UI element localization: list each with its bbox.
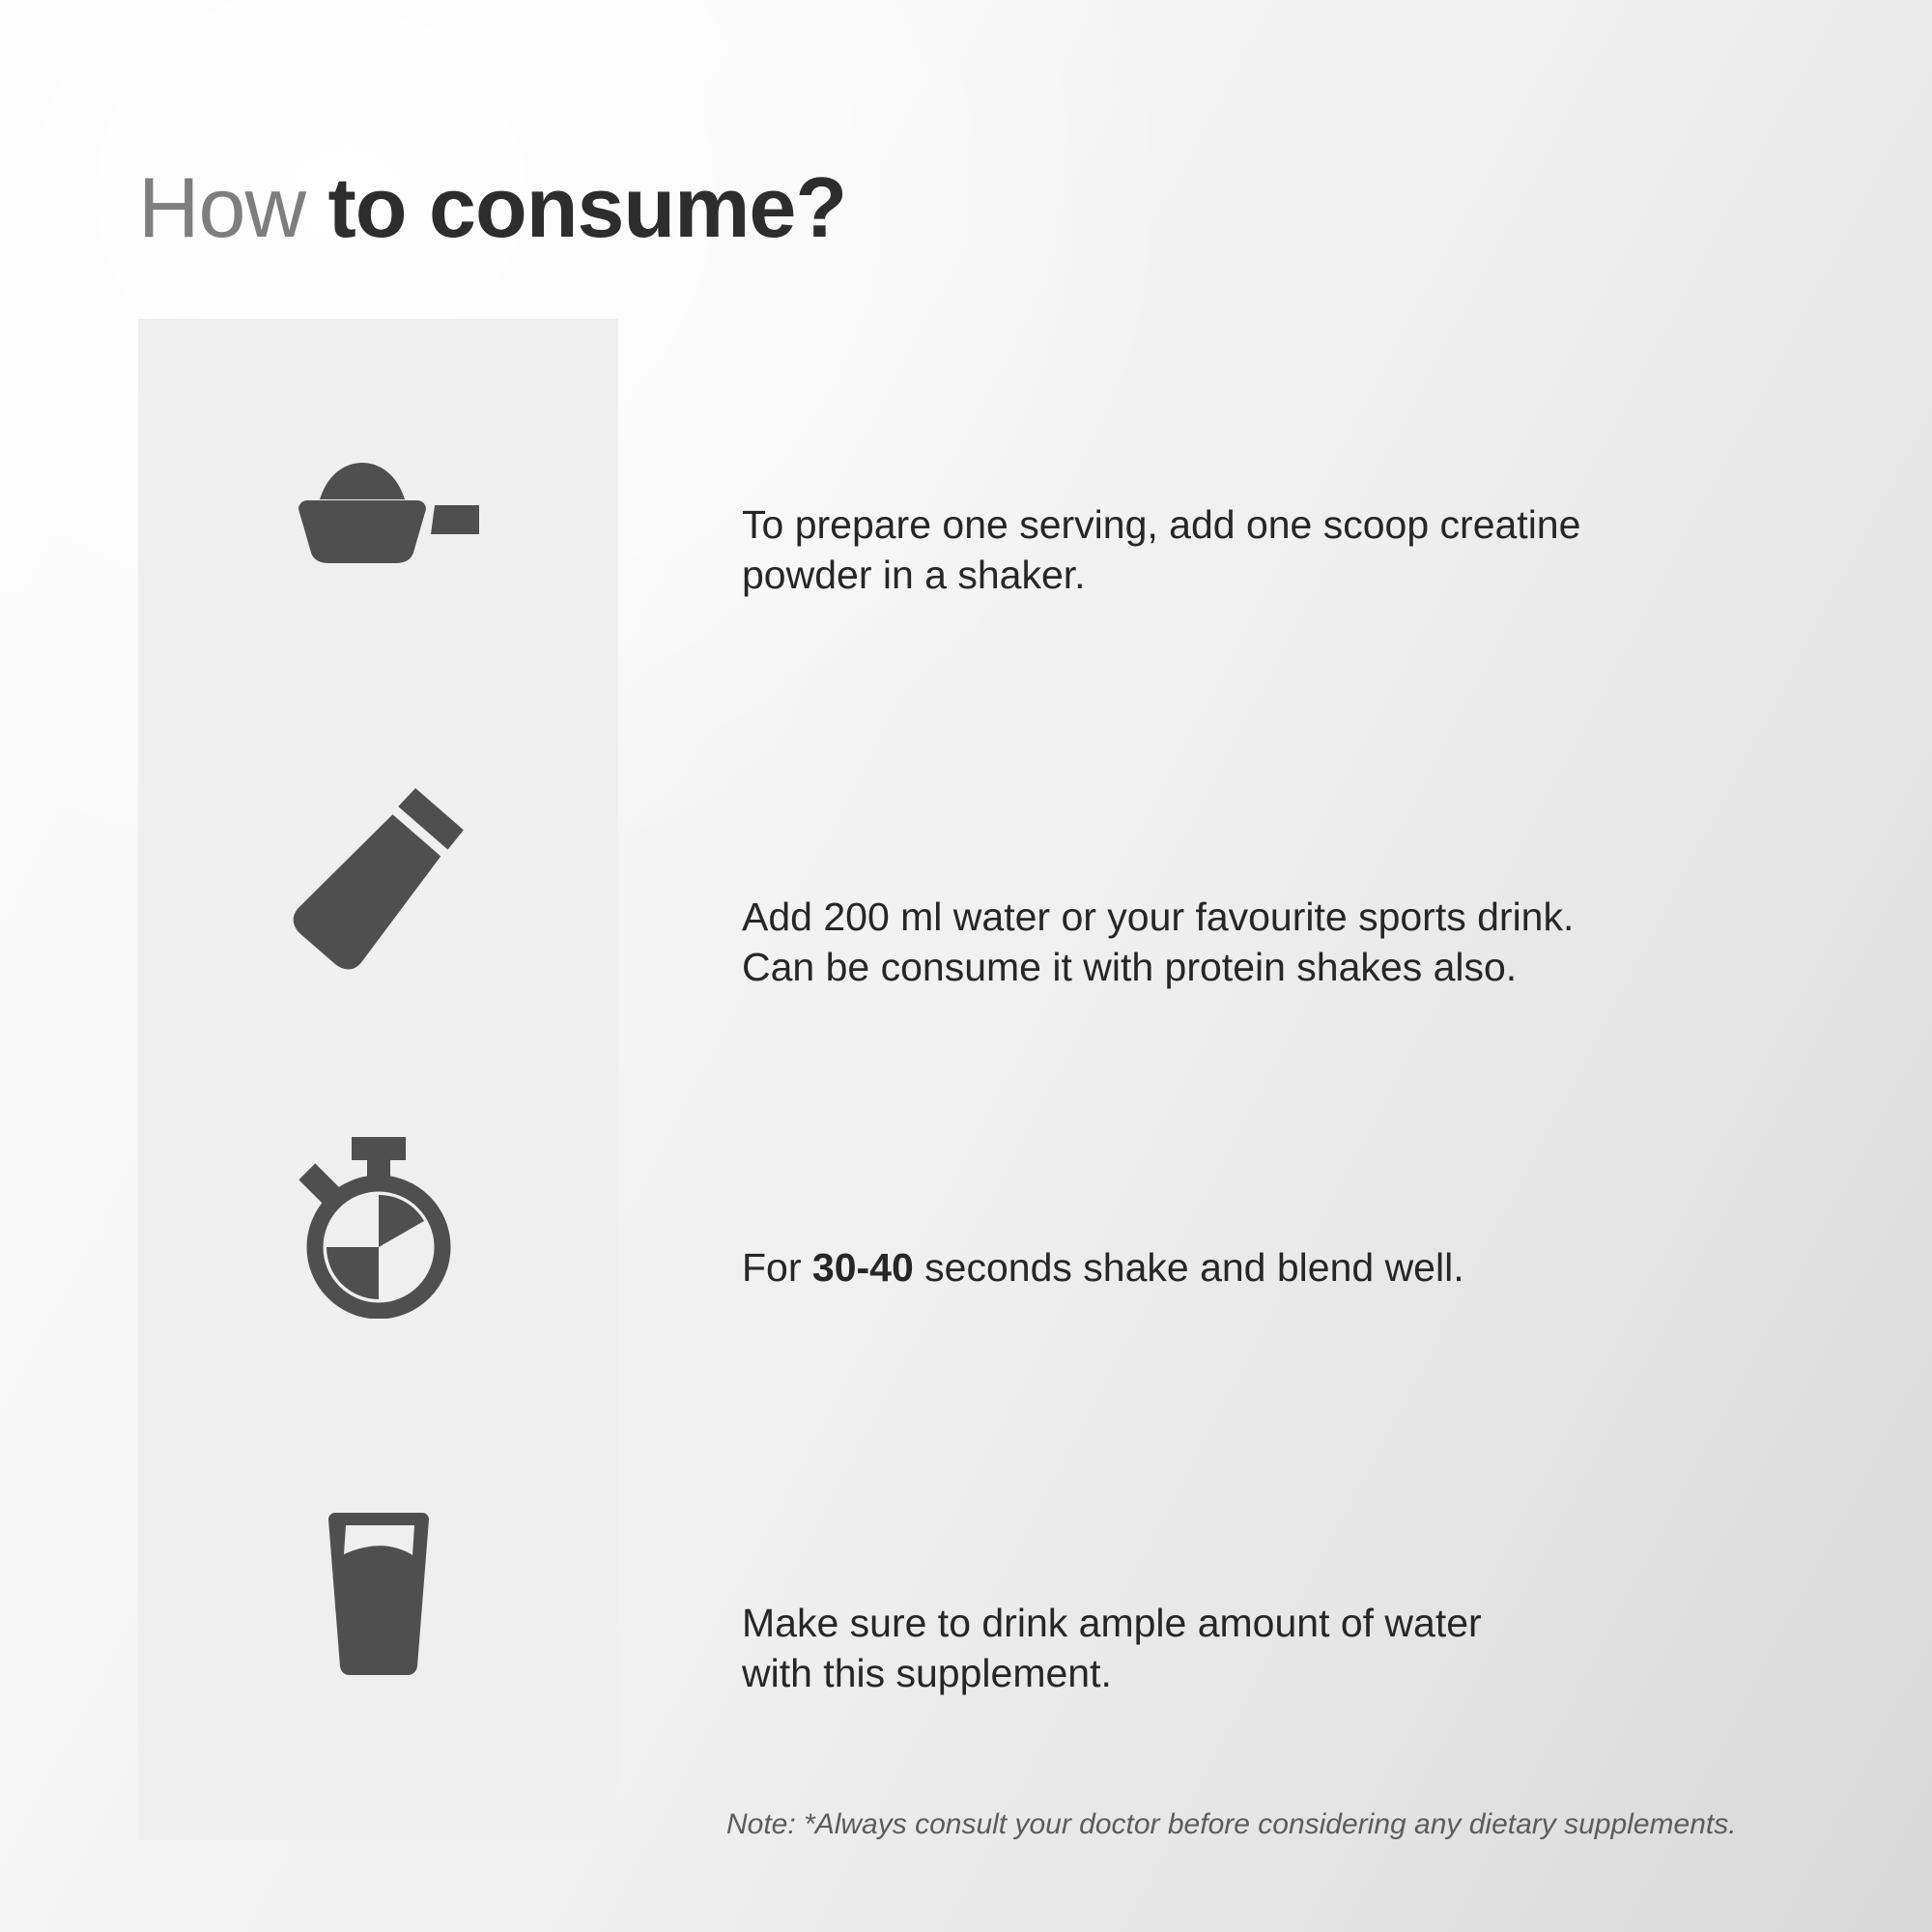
step-2-text-after: seconds shake and blend well. <box>914 1245 1464 1290</box>
step-2-duration-value: 30-40 <box>812 1245 914 1290</box>
icon-slot-water-glass <box>138 1488 618 1700</box>
stopwatch-icon <box>292 1135 466 1319</box>
shaker-bottle-icon <box>287 782 470 976</box>
infographic-page: How to consume? <box>0 0 1932 1932</box>
disclaimer-note: Note: *Always consult your doctor before… <box>726 1808 1837 1841</box>
icon-slot-scoop <box>138 415 618 609</box>
page-title-bold-part: to consume? <box>328 159 847 255</box>
step-0-line-2: powder in a shaker. <box>742 553 1086 597</box>
step-text-0: To prepare one serving, add one scoop cr… <box>742 499 1833 601</box>
step-text-1: Add 200 ml water or your favourite sport… <box>742 892 1833 993</box>
icon-slot-shaker <box>138 773 618 985</box>
water-glass-icon <box>321 1512 437 1676</box>
step-1-line-2: Can be consume it with protein shakes al… <box>742 945 1517 989</box>
icon-panel <box>138 319 618 1840</box>
step-0-line-1: To prepare one serving, add one scoop cr… <box>742 502 1580 547</box>
step-1-line-1: Add 200 ml water or your favourite sport… <box>742 895 1574 939</box>
step-text-3: Make sure to drink ample amount of water… <box>742 1598 1833 1699</box>
page-title: How to consume? <box>138 165 846 250</box>
step-3-line-2: with this supplement. <box>742 1651 1112 1695</box>
step-3-line-1: Make sure to drink ample amount of water <box>742 1601 1482 1645</box>
measuring-scoop-icon <box>277 459 480 565</box>
page-title-light-part: How <box>138 159 305 255</box>
icon-slot-stopwatch <box>138 1121 618 1333</box>
step-text-2: For 30-40 seconds shake and blend well. <box>742 1242 1833 1293</box>
step-2-text-before: For <box>742 1245 812 1290</box>
